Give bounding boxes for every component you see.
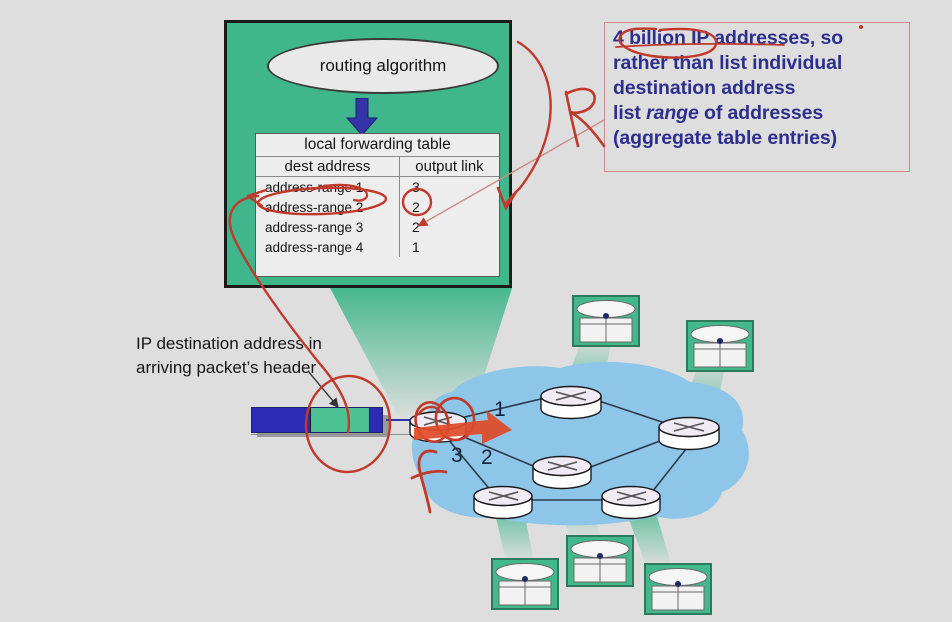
link-label-1: 1 <box>494 398 506 422</box>
router-center <box>533 457 591 489</box>
router-bottom-right <box>602 487 660 519</box>
link-right-bottomright <box>652 444 690 492</box>
router-right <box>659 418 719 450</box>
host-bottom-right <box>645 564 711 614</box>
link-top-right <box>596 400 668 424</box>
host-bottom-left <box>492 559 558 609</box>
topology-layer <box>0 0 952 622</box>
link-label-3: 3 <box>451 444 463 468</box>
router-bottom-left <box>474 487 532 519</box>
host-bottom-mid <box>567 536 633 586</box>
host-top-left <box>573 296 639 346</box>
router-ingress <box>410 412 466 442</box>
link-center-right <box>588 438 668 468</box>
host-top-right <box>687 321 753 371</box>
link-label-2: 2 <box>481 446 493 470</box>
router-top <box>541 387 601 419</box>
slide-canvas: routing algorithm local forwarding table… <box>0 0 952 622</box>
link-ingress-center <box>452 432 538 468</box>
